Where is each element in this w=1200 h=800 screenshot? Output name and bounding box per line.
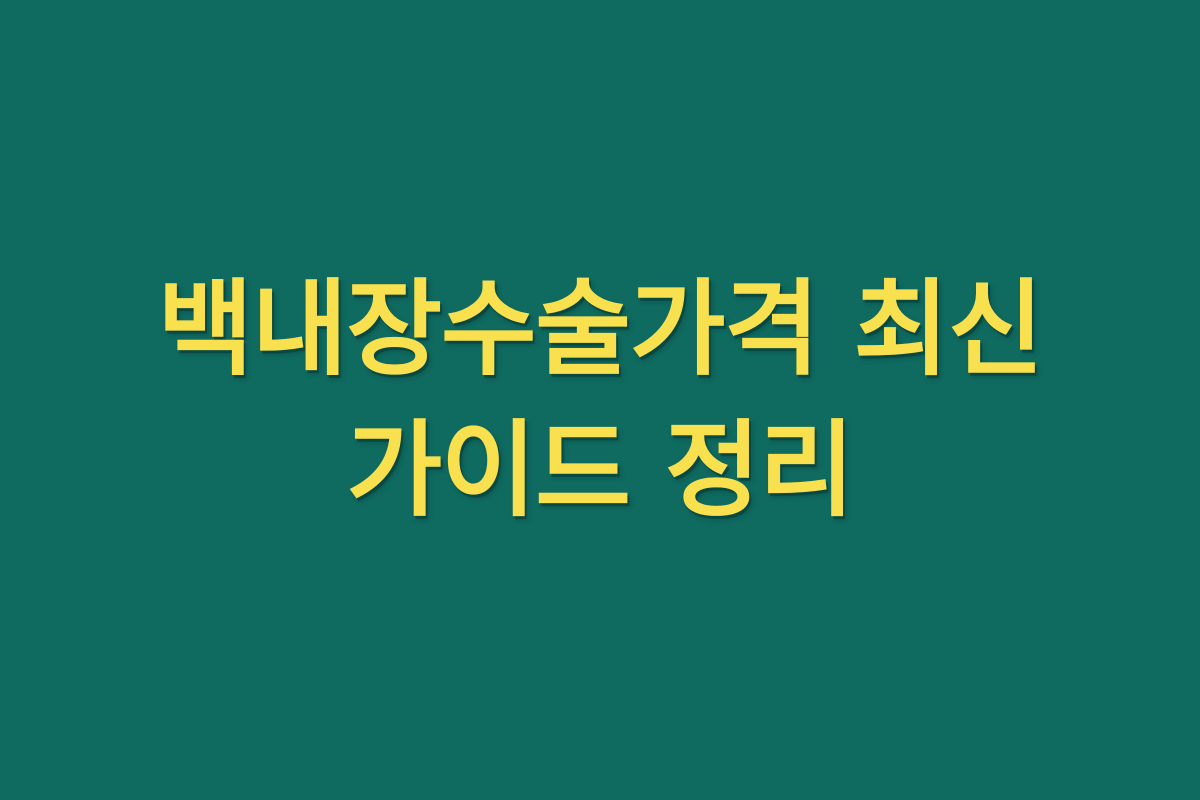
title-block: 백내장수술가격 최신 가이드 정리: [80, 259, 1120, 542]
page-title: 백내장수술가격 최신 가이드 정리: [100, 259, 1100, 542]
share-card: 백내장수술가격 최신 가이드 정리: [0, 0, 1200, 800]
